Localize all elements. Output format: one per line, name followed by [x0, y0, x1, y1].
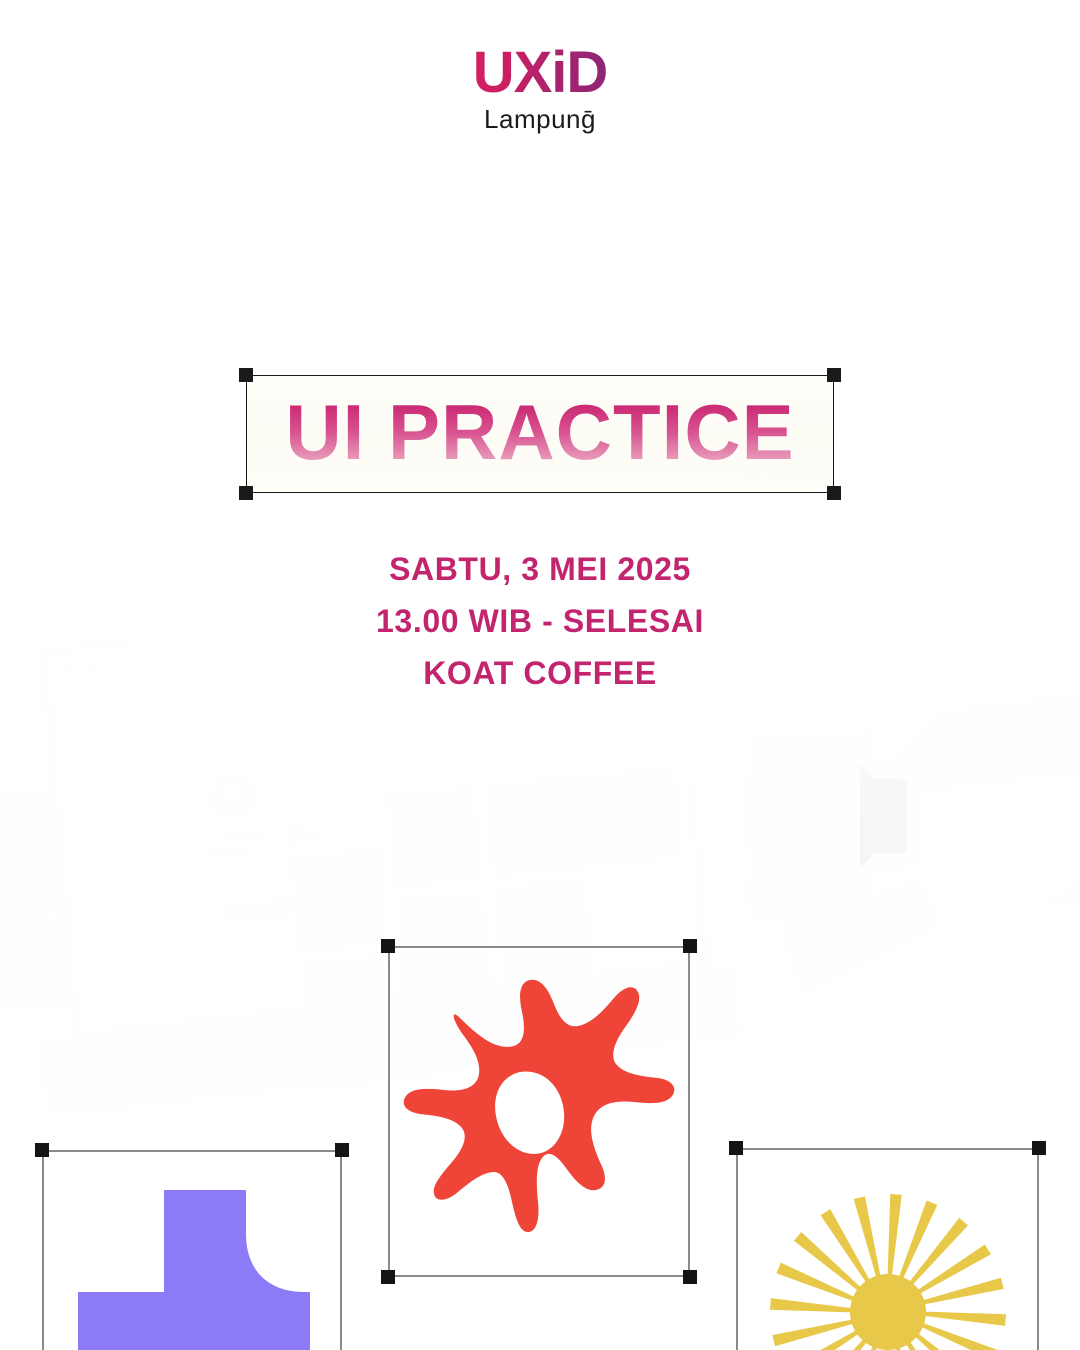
resize-handle-top-right-icon[interactable]: [335, 1143, 349, 1157]
resize-handle-top-right-icon[interactable]: [683, 939, 697, 953]
logo-subtitle: Lampunḡ: [0, 104, 1080, 135]
resize-handle-bottom-right-icon[interactable]: [827, 486, 841, 500]
purple-blob-selection-frame[interactable]: [42, 1150, 342, 1350]
red-splat-icon: [402, 978, 676, 1240]
event-time: 13.00 WIB - SELESAI: [0, 596, 1080, 648]
event-venue: KOAT COFFEE: [0, 648, 1080, 700]
page-title: UI PRACTICE: [246, 375, 834, 493]
event-date: SABTU, 3 MEI 2025: [0, 544, 1080, 596]
title-selection-frame[interactable]: UI PRACTICE: [246, 375, 834, 493]
poster-canvas: DO BETTER WORK FASTER GROW TOGETHER UXiD…: [0, 0, 1080, 1350]
uxid-logo: UXiD Lampunḡ: [0, 44, 1080, 135]
resize-handle-top-left-icon[interactable]: [239, 368, 253, 382]
resize-handle-top-left-icon[interactable]: [381, 939, 395, 953]
yellow-sunburst-selection-frame[interactable]: [736, 1148, 1039, 1350]
resize-handle-top-left-icon[interactable]: [35, 1143, 49, 1157]
event-details: SABTU, 3 MEI 2025 13.00 WIB - SELESAI KO…: [0, 544, 1080, 699]
resize-handle-bottom-right-icon[interactable]: [683, 1270, 697, 1284]
red-splat-selection-frame[interactable]: [388, 946, 690, 1277]
purple-blob-icon: [78, 1190, 310, 1350]
resize-handle-bottom-left-icon[interactable]: [239, 486, 253, 500]
resize-handle-top-left-icon[interactable]: [729, 1141, 743, 1155]
resize-handle-top-right-icon[interactable]: [1032, 1141, 1046, 1155]
logo-wordmark: UXiD: [473, 44, 608, 102]
poster-content: UXiD Lampunḡ UI PRACTICE SABTU, 3 MEI 2…: [0, 0, 1080, 1350]
yellow-sunburst-icon: [768, 1192, 1008, 1350]
resize-handle-top-right-icon[interactable]: [827, 368, 841, 382]
resize-handle-bottom-left-icon[interactable]: [381, 1270, 395, 1284]
